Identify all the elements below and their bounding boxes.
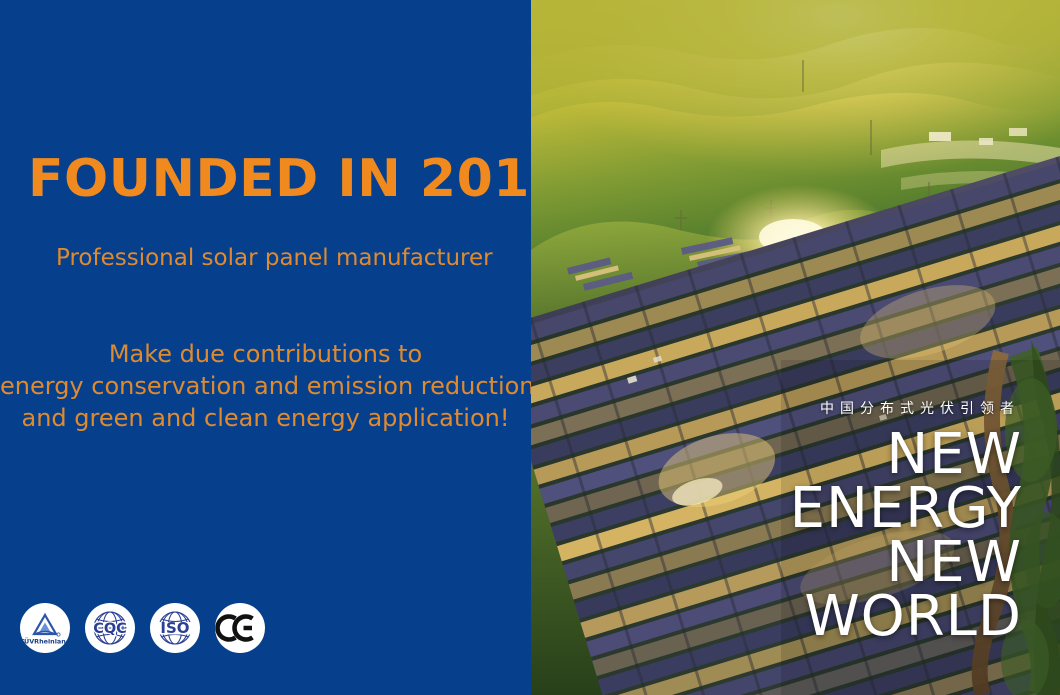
ce-badge [215,603,265,653]
certification-badges: TÜVRheinland CQC [20,603,265,653]
mission-statement: Make due contributions to energy conserv… [0,338,531,434]
svg-text:CQC: CQC [93,621,127,637]
tuv-rheinland-icon: TÜVRheinland [20,603,70,653]
subtitle: Professional solar panel manufacturer [56,244,493,272]
slogan-line-1: NEW [790,428,1022,482]
cqc-badge: CQC [85,603,135,653]
cqc-icon: CQC [85,603,135,653]
mission-line-2: energy conservation and emission reducti… [0,370,531,402]
slogan: NEW ENERGY NEW WORLD [790,428,1022,644]
mission-line-3: and green and clean energy application! [0,402,531,434]
tuv-rheinland-badge: TÜVRheinland [20,603,70,653]
svg-text:ISO: ISO [160,619,189,637]
solar-farm-photo: 中国分布式光伏引领者 NEW ENERGY NEW WORLD [531,0,1060,695]
left-text-panel: FOUNDED IN 2017 Professional solar panel… [0,0,531,695]
slogan-line-2: ENERGY [790,482,1022,536]
promo-banner: FOUNDED IN 2017 Professional solar panel… [0,0,1060,695]
chinese-tagline: 中国分布式光伏引领者 [820,398,1020,418]
iso-icon: ISO [150,603,200,653]
svg-text:TÜVRheinland: TÜVRheinland [20,637,70,646]
iso-badge: ISO [150,603,200,653]
slogan-line-4: WORLD [790,590,1022,644]
mission-line-1: Make due contributions to [0,338,531,370]
page-title: FOUNDED IN 2017 [28,152,531,206]
ce-mark-icon [215,603,265,653]
slogan-line-3: NEW [790,536,1022,590]
